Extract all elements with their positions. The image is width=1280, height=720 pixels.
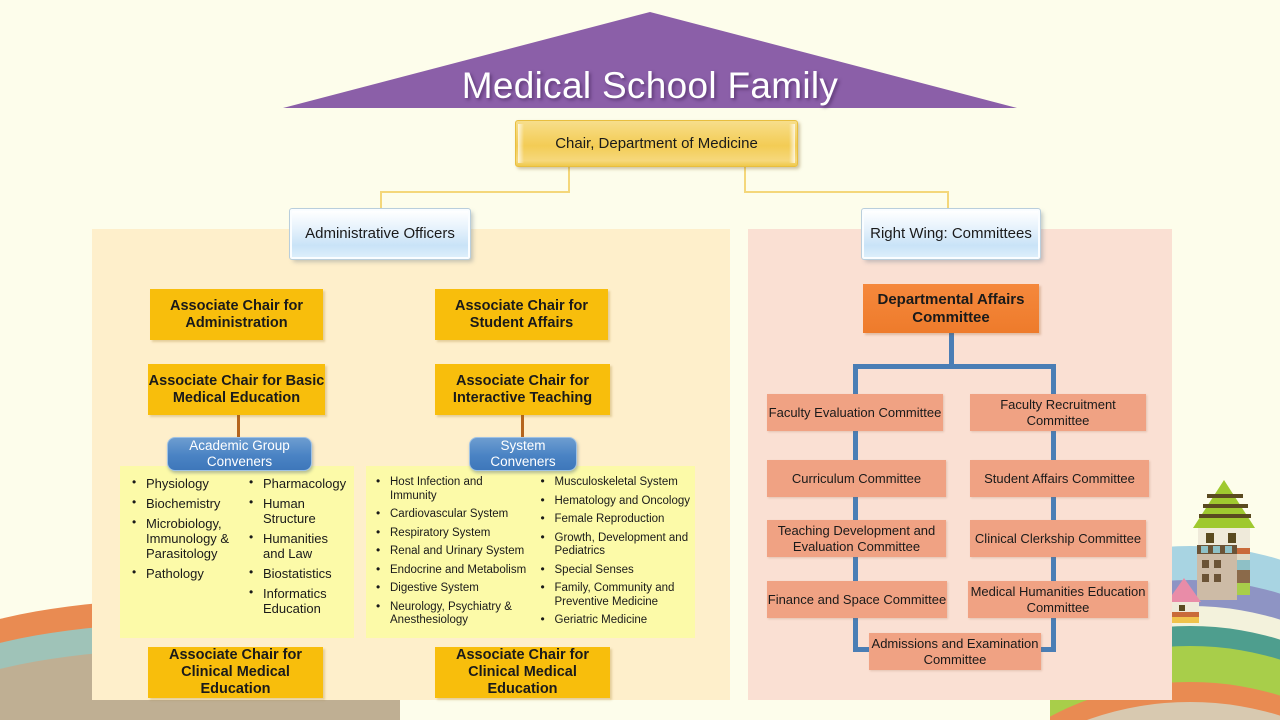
list-item: Pharmacology — [247, 476, 352, 491]
list-item: Biostatistics — [247, 566, 352, 581]
list-item: Musculoskeletal System — [539, 476, 694, 490]
finance-and-space-committee-label: Finance and Space Committee — [768, 592, 946, 608]
associate-chair-clinical-medical-education-left-box[interactable]: Associate Chair for Clinical Medical Edu… — [148, 647, 323, 698]
connector-chair-to-right-wing — [947, 191, 949, 211]
connector-chair-down-right — [744, 167, 746, 192]
list-item: Geriatric Medicine — [539, 614, 694, 628]
associate-chair-administration-box[interactable]: Associate Chair for Administration — [150, 289, 323, 340]
list-item: Family, Community and Preventive Medicin… — [539, 582, 694, 609]
connector-basic-to-academic-conveners — [237, 415, 240, 439]
student-affairs-committee-label: Student Affairs Committee — [984, 471, 1135, 487]
list-item: Biochemistry — [130, 496, 235, 511]
right-wing-committees-label: Right Wing: Committees — [870, 225, 1032, 243]
connector-clerkship-to-humanities — [1051, 557, 1056, 582]
associate-chair-clinical-medical-education-left-label: Associate Chair for Clinical Medical Edu… — [148, 647, 323, 698]
connector-curriculum-to-teaching — [853, 497, 858, 521]
decorative-house-small — [1167, 578, 1201, 622]
list-item: Digestive System — [374, 582, 529, 596]
associate-chair-clinical-medical-education-right-box[interactable]: Associate Chair for Clinical Medical Edu… — [435, 647, 610, 698]
departmental-affairs-committee-label: Departmental Affairs Committee — [863, 291, 1039, 327]
list-item: Renal and Urinary System — [374, 545, 529, 559]
academic-group-column-1: PhysiologyBiochemistryMicrobiology, Immu… — [120, 476, 237, 638]
faculty-recruitment-committee-box[interactable]: Faculty Recruitment Committee — [970, 394, 1146, 431]
administrative-officers-label: Administrative Officers — [305, 225, 455, 243]
system-column-1: Host Infection and ImmunityCardiovascula… — [366, 476, 531, 638]
associate-chair-interactive-teaching-label: Associate Chair for Interactive Teaching — [435, 373, 610, 407]
list-item: Microbiology, Immunology & Parasitology — [130, 516, 235, 561]
associate-chair-clinical-medical-education-right-label: Associate Chair for Clinical Medical Edu… — [435, 647, 610, 698]
list-item: Hematology and Oncology — [539, 495, 694, 509]
list-item: Growth, Development and Pediatrics — [539, 532, 694, 559]
faculty-recruitment-committee-label: Faculty Recruitment Committee — [970, 397, 1146, 429]
teaching-development-committee-box[interactable]: Teaching Development and Evaluation Comm… — [767, 520, 946, 557]
list-item: Female Reproduction — [539, 513, 694, 527]
academic-group-column-2: PharmacologyHuman StructureHumanities an… — [237, 476, 354, 638]
list-item: Respiratory System — [374, 527, 529, 541]
connector-interactive-to-system-conveners — [521, 415, 524, 439]
connector-dept-to-faculty-evaluation — [853, 364, 858, 395]
clinical-clerkship-committee-label: Clinical Clerkship Committee — [975, 531, 1141, 547]
list-item: Human Structure — [247, 496, 352, 526]
curriculum-committee-box[interactable]: Curriculum Committee — [767, 460, 946, 497]
academic-group-list-1: PhysiologyBiochemistryMicrobiology, Immu… — [130, 476, 235, 581]
associate-chair-administration-label: Associate Chair for Administration — [150, 298, 323, 332]
administrative-officers-header-box[interactable]: Administrative Officers — [290, 209, 470, 259]
faculty-evaluation-committee-box[interactable]: Faculty Evaluation Committee — [767, 394, 943, 431]
slide-canvas: Medical School Family Chair, Department … — [0, 0, 1280, 720]
list-item: Neurology, Psychiatry & Anesthesiology — [374, 601, 529, 628]
associate-chair-basic-medical-education-box[interactable]: Associate Chair for Basic Medical Educat… — [148, 364, 325, 415]
academic-group-list-2: PharmacologyHuman StructureHumanities an… — [247, 476, 352, 616]
list-item: Pathology — [130, 566, 235, 581]
associate-chair-student-affairs-box[interactable]: Associate Chair for Student Affairs — [435, 289, 608, 340]
admissions-and-examination-committee-box[interactable]: Admissions and Examination Committee — [869, 633, 1041, 670]
curriculum-committee-label: Curriculum Committee — [792, 471, 921, 487]
list-item: Host Infection and Immunity — [374, 476, 529, 503]
associate-chair-interactive-teaching-box[interactable]: Associate Chair for Interactive Teaching — [435, 364, 610, 415]
list-item: Special Senses — [539, 564, 694, 578]
connector-student-affairs-to-clerkship — [1051, 497, 1056, 521]
right-wing-committees-header-box[interactable]: Right Wing: Committees — [862, 209, 1040, 259]
academic-group-list-panel: PhysiologyBiochemistryMicrobiology, Immu… — [120, 466, 354, 638]
page-title: Medical School Family — [283, 66, 1017, 106]
list-item: Endocrine and Metabolism — [374, 564, 529, 578]
connector-chair-horizontal-left — [380, 191, 570, 193]
student-affairs-committee-box[interactable]: Student Affairs Committee — [970, 460, 1149, 497]
system-column-2: Musculoskeletal SystemHematology and Onc… — [531, 476, 696, 638]
connector-chair-to-left-wing — [380, 191, 382, 211]
connector-fe-to-curriculum — [853, 431, 858, 461]
academic-group-conveners-label: Academic Group Conveners — [168, 438, 311, 470]
list-item: Informatics Education — [247, 586, 352, 616]
associate-chair-basic-medical-education-label: Associate Chair for Basic Medical Educat… — [148, 373, 325, 407]
academic-group-conveners-box[interactable]: Academic Group Conveners — [167, 437, 312, 471]
list-item: Humanities and Law — [247, 531, 352, 561]
decorative-building-mid — [1197, 545, 1237, 600]
system-list-1: Host Infection and ImmunityCardiovascula… — [374, 476, 529, 628]
admissions-and-examination-committee-label: Admissions and Examination Committee — [869, 636, 1041, 668]
medical-humanities-education-committee-label: Medical Humanities Education Committee — [968, 584, 1148, 616]
system-conveners-label: System Conveners — [470, 438, 576, 470]
chair-department-of-medicine-box[interactable]: Chair, Department of Medicine — [515, 120, 798, 167]
title-banner: Medical School Family — [283, 12, 1017, 108]
system-conveners-list-panel: Host Infection and ImmunityCardiovascula… — [366, 466, 695, 638]
connector-fr-to-student-affairs — [1051, 431, 1056, 461]
medical-humanities-education-committee-box[interactable]: Medical Humanities Education Committee — [968, 581, 1148, 618]
teaching-development-committee-label: Teaching Development and Evaluation Comm… — [767, 523, 946, 555]
departmental-affairs-committee-box[interactable]: Departmental Affairs Committee — [863, 284, 1039, 333]
connector-dept-horizontal — [853, 364, 1056, 369]
list-item: Physiology — [130, 476, 235, 491]
connector-chair-down-left — [568, 167, 570, 192]
clinical-clerkship-committee-box[interactable]: Clinical Clerkship Committee — [970, 520, 1146, 557]
connector-chair-horizontal-right — [744, 191, 949, 193]
finance-and-space-committee-box[interactable]: Finance and Space Committee — [767, 581, 947, 618]
connector-teaching-to-finance — [853, 557, 858, 582]
list-item: Cardiovascular System — [374, 508, 529, 522]
system-list-2: Musculoskeletal SystemHematology and Onc… — [539, 476, 694, 628]
connector-dept-to-faculty-recruitment — [1051, 364, 1056, 395]
connector-dept-down — [949, 333, 954, 367]
system-conveners-box[interactable]: System Conveners — [469, 437, 577, 471]
chair-label: Chair, Department of Medicine — [555, 135, 758, 152]
decorative-house-large — [1195, 480, 1253, 595]
associate-chair-student-affairs-label: Associate Chair for Student Affairs — [435, 298, 608, 332]
faculty-evaluation-committee-label: Faculty Evaluation Committee — [769, 405, 942, 421]
